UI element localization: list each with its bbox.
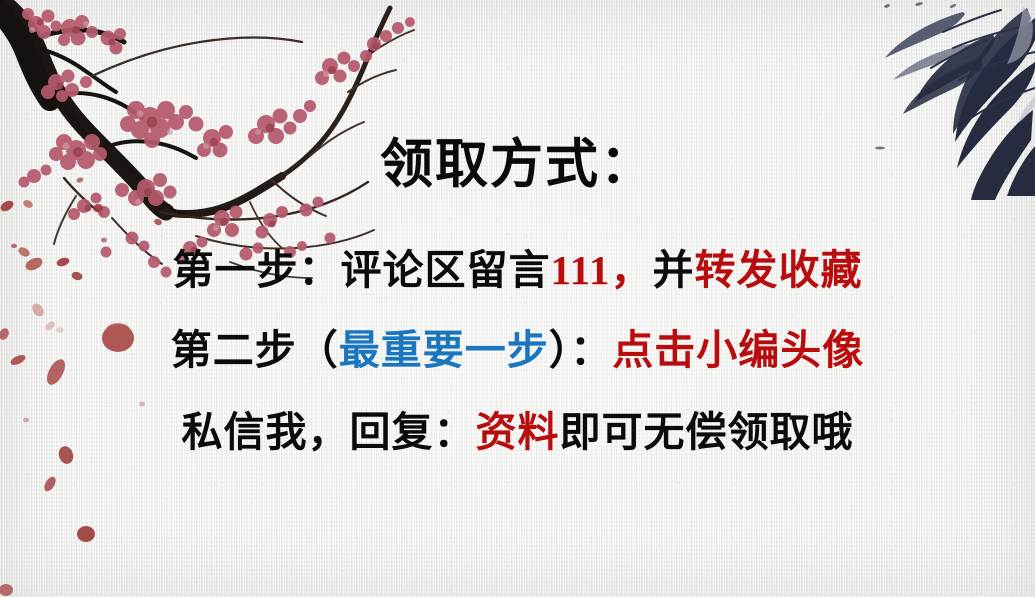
line2-segment-action: 点击小编头像 xyxy=(612,327,864,373)
line1-segment-action: 转发收藏 xyxy=(694,247,862,293)
line2-segment-emphasis: 最重要一步 xyxy=(339,327,549,373)
line1-segment-code: 111， xyxy=(551,247,653,293)
line3-segment-prefix: 私信我，回复： xyxy=(182,409,476,455)
list-item: 第二步（最重要一步）：点击小编头像 xyxy=(0,328,1035,373)
line3-segment-keyword: 资料 xyxy=(476,409,560,455)
page-title: 领取方式： xyxy=(0,136,1035,194)
line3-segment-suffix: 即可无偿领取哦 xyxy=(560,409,854,455)
line2-segment-separator: ）： xyxy=(549,327,613,373)
line2-segment-prefix: 第二步（ xyxy=(171,327,339,373)
list-item: 私信我，回复：资料即可无偿领取哦 xyxy=(0,410,1035,455)
text-content: 领取方式： 第一步：评论区留言111，并转发收藏 第二步（最重要一步）：点击小编… xyxy=(0,0,1035,597)
line1-segment-prefix: 第一步：评论区留言 xyxy=(173,247,551,293)
list-item: 第一步：评论区留言111，并转发收藏 xyxy=(0,248,1035,293)
slide-canvas: 领取方式： 第一步：评论区留言111，并转发收藏 第二步（最重要一步）：点击小编… xyxy=(0,0,1035,597)
line1-segment-conjunction: 并 xyxy=(652,247,694,293)
